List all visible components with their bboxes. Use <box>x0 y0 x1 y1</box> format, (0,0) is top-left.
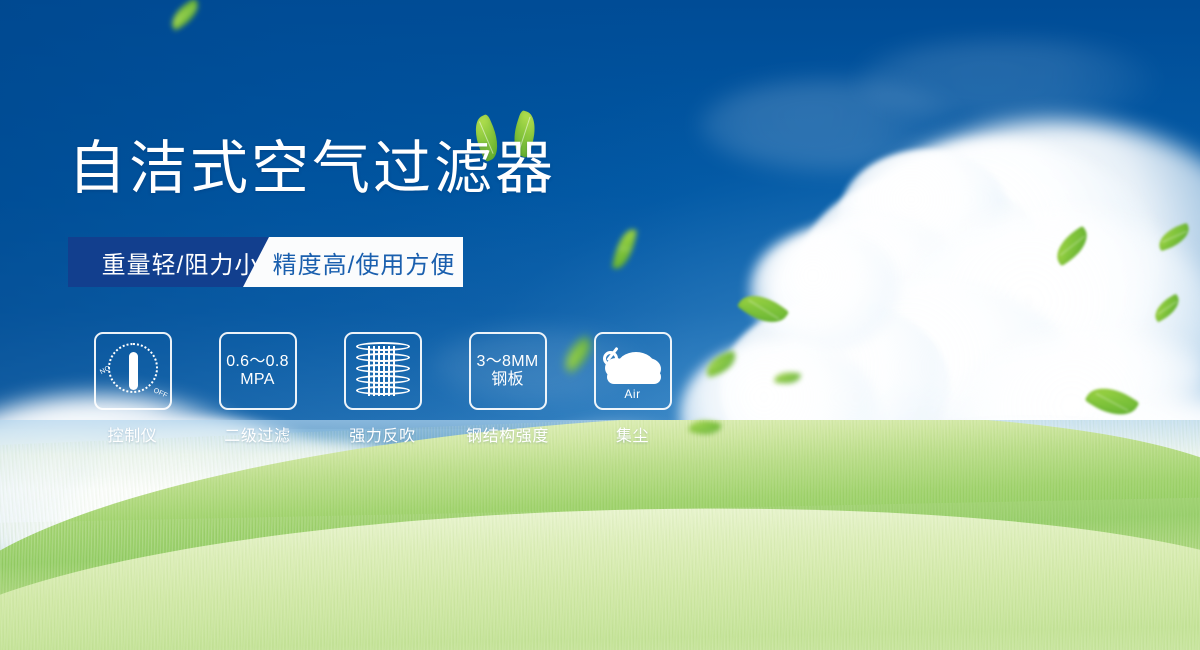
filter-disc <box>356 353 410 362</box>
control-dial-icon: NO OFF <box>102 340 164 402</box>
feature-item-back-blow[interactable]: 强力反吹 <box>320 332 445 446</box>
dial-label-off: OFF <box>152 387 168 400</box>
pressure-line-2: MPA <box>226 371 289 389</box>
stacked-filter-icon <box>356 342 410 400</box>
feature-caption: 二级过滤 <box>224 422 290 446</box>
feature-item-two-stage-filter[interactable]: 0.6～0.8 MPA 二级过滤 <box>195 332 320 446</box>
feature-icon-box <box>344 332 422 410</box>
feature-icon-box: Air <box>594 332 672 410</box>
feature-caption: 控制仪 <box>108 422 158 446</box>
filter-disc <box>356 386 410 395</box>
feature-icon-box: NO OFF <box>94 332 172 410</box>
subtitle-segment-right: 精度高/使用方便 <box>243 237 463 287</box>
feature-list: NO OFF 控制仪 0.6～0.8 MPA 二级过滤 <box>70 332 695 446</box>
air-cloud-icon: Air <box>601 344 665 398</box>
feature-icon-box: 0.6～0.8 MPA <box>219 332 297 410</box>
feature-icon-box: 3～8MM 钢板 <box>469 332 547 410</box>
steel-line-1: 3～8MM <box>477 353 539 371</box>
pressure-text-icon: 0.6～0.8 MPA <box>226 353 289 389</box>
dial-needle <box>129 352 138 390</box>
feature-caption: 钢结构强度 <box>466 422 549 446</box>
air-label: Air <box>601 387 665 401</box>
cumulus-cloud <box>750 230 900 350</box>
feature-item-dust-collection[interactable]: Air 集尘 <box>570 332 695 446</box>
banner-title: 自洁式空气过滤器 <box>68 140 556 198</box>
wispy-cloud <box>860 40 1160 120</box>
subtitle-left-text: 重量轻/阻力小 <box>102 245 260 280</box>
feature-item-steel-strength[interactable]: 3～8MM 钢板 钢结构强度 <box>445 332 570 446</box>
subtitle-right-text: 精度高/使用方便 <box>273 245 456 280</box>
feature-item-controller[interactable]: NO OFF 控制仪 <box>70 332 195 446</box>
product-hero-banner: 自洁式空气过滤器 重量轻/阻力小 精度高/使用方便 NO OFF <box>0 0 1200 650</box>
subtitle-bar: 重量轻/阻力小 精度高/使用方便 <box>68 237 463 287</box>
banner-content: 自洁式空气过滤器 重量轻/阻力小 精度高/使用方便 NO OFF <box>68 0 768 650</box>
steel-plate-text-icon: 3～8MM 钢板 <box>477 353 539 389</box>
feature-caption: 强力反吹 <box>349 422 415 446</box>
feature-caption: 集尘 <box>616 422 649 446</box>
cloud-base <box>607 370 661 384</box>
pressure-line-1: 0.6～0.8 <box>226 353 289 371</box>
filter-disc <box>356 375 410 384</box>
filter-disc <box>356 364 410 373</box>
filter-disc <box>356 342 410 351</box>
steel-line-2: 钢板 <box>477 371 539 389</box>
